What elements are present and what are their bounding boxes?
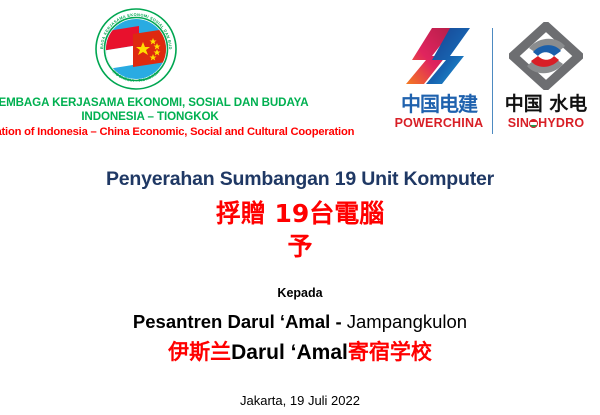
page-title-chinese-line-1: 捊贈 19台電腦 [0, 198, 600, 230]
recipient-cn-middle: Darul ‘Amal [231, 341, 348, 364]
powerchina-logo: 中国电建 POWERCHINA [390, 22, 488, 130]
presentation-slide: LEMBAGA KERJASAMA EKONOMI SOSIAL DAN BUD… [0, 0, 600, 415]
sinohydro-diamond-mark [509, 22, 583, 90]
recipient-name-bold: Pesantren Darul ‘Amal - [133, 311, 342, 332]
powerchina-latin-name: POWERCHINA [395, 116, 484, 130]
globe-icon [529, 119, 538, 128]
sinohydro-latin-pre: SIN [508, 116, 529, 130]
powerchina-diamond-mark [402, 22, 476, 90]
recipient-cn-suffix: 寄宿学校 [348, 340, 432, 364]
organization-name-block: LEMBAGA KERJASAMA EKONOMI, SOSIAL DAN BU… [0, 96, 340, 140]
slide-body: Penyerahan Sumbangan 19 Unit Komputer 捊贈… [0, 166, 600, 367]
org-name-english: Association of Indonesia – China Economi… [0, 125, 340, 140]
slide-header: LEMBAGA KERJASAMA EKONOMI SOSIAL DAN BUD… [0, 0, 600, 160]
sinohydro-logo: 中国 水电 SINHYDRO [497, 22, 595, 130]
sinohydro-chinese-name: 中国 水电 [505, 93, 588, 115]
recipient-name-regular: Jampangkulon [347, 311, 467, 332]
org-name-line-2: INDONESIA – TIONGKOK [0, 110, 340, 124]
indonesia-china-cooperation-emblem: LEMBAGA KERJASAMA EKONOMI SOSIAL DAN BUD… [93, 6, 179, 92]
corporate-logo-lockup: 中国电建 POWERCHINA 中国 水电 SINHYDRO [390, 22, 595, 150]
recipient-cn-prefix: 伊斯兰 [168, 340, 231, 364]
org-name-line-1: LEMBAGA KERJASAMA EKONOMI, SOSIAL DAN BU… [0, 96, 340, 110]
powerchina-chinese-name: 中国电建 [401, 93, 477, 115]
recipient-name-chinese: 伊斯兰Darul ‘Amal寄宿学校 [0, 338, 600, 367]
recipient-label: Kepada [0, 284, 600, 302]
logo-divider [492, 28, 493, 134]
recipient-name: Pesantren Darul ‘Amal - Jampangkulon [0, 308, 600, 336]
sinohydro-latin-name: SINHYDRO [508, 116, 585, 130]
sinohydro-latin-post: HYDRO [538, 116, 584, 130]
date-stamp: Jakarta, 19 Juli 2022 [0, 392, 600, 410]
page-title-chinese-line-2: 予 [0, 232, 600, 262]
page-title: Penyerahan Sumbangan 19 Unit Komputer [0, 166, 600, 192]
